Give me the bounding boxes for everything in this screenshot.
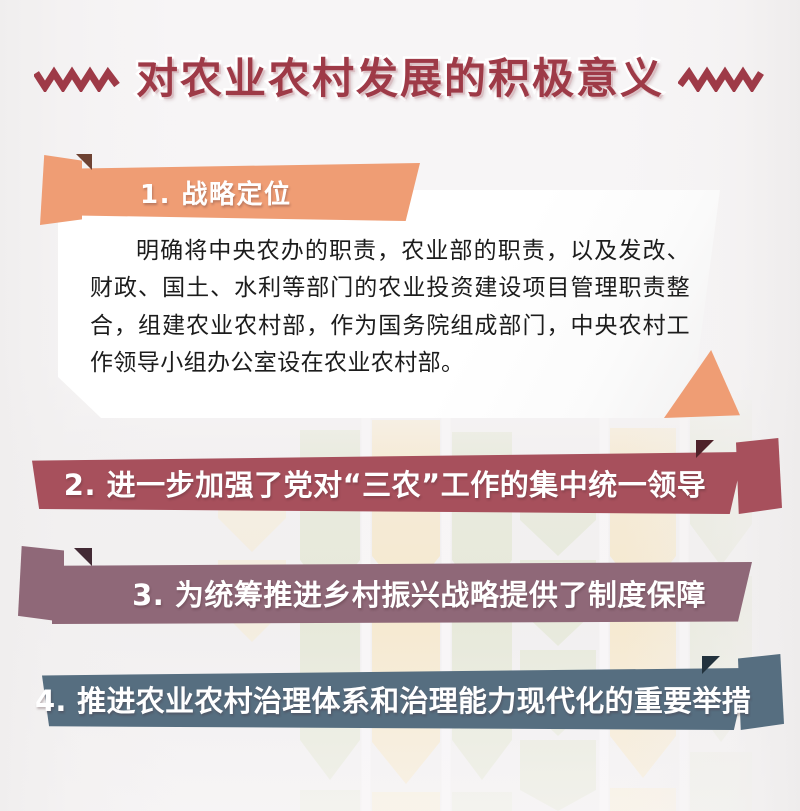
section-body-text: 明确将中央农办的职责，农业部的职责，以及发改、财政、国土、水利等部门的农业投资建… (90, 233, 690, 382)
section-banner-4-label: 4. 推进农业农村治理体系和治理能力现代化的重要举措 (42, 668, 748, 730)
section-banner-1-label: 1. 战略定位 (62, 163, 420, 221)
page-title-row: 对农业农村发展的积极意义 (0, 48, 800, 110)
section-banner-3-label: 3. 为统筹推进乡村振兴战略提供了制度保障 (52, 562, 752, 624)
section-banner-1[interactable]: 1. 战略定位 (62, 163, 420, 221)
section-banner-2[interactable]: 2. 进一步加强了党对“三农”工作的集中统一领导 (32, 452, 744, 514)
page-title: 对农业农村发展的积极意义 (136, 58, 664, 100)
section-banner-4[interactable]: 4. 推进农业农村治理体系和治理能力现代化的重要举措 (42, 668, 748, 730)
section-banner-2-label: 2. 进一步加强了党对“三农”工作的集中统一领导 (32, 452, 744, 514)
zigzag-ornament-left-icon (34, 66, 122, 92)
section-banner-3[interactable]: 3. 为统筹推进乡村振兴战略提供了制度保障 (52, 562, 752, 624)
infographic-poster: 对农业农村发展的积极意义 1. 战略定位 明确将中央农办的职责，农业部的职责，以… (0, 0, 800, 811)
zigzag-ornament-right-icon (678, 66, 766, 92)
